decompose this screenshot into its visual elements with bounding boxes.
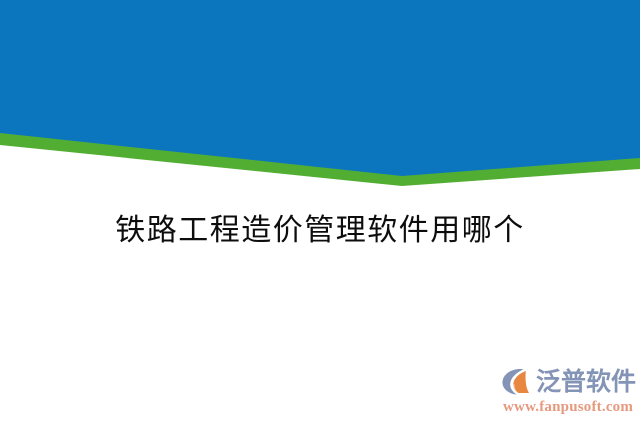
page-title: 铁路工程造价管理软件用哪个 xyxy=(115,212,525,250)
banner-green-shape xyxy=(0,0,640,186)
logo-row: 泛普软件 xyxy=(501,365,636,397)
logo-url: www.fanpusoft.com xyxy=(503,400,633,415)
banner-blue-shape xyxy=(0,0,640,176)
slide-canvas: 铁路工程造价管理软件用哪个 泛普软件 www.fanpusoft.com xyxy=(0,0,640,427)
page-title-block: 铁路工程造价管理软件用哪个 xyxy=(0,212,640,250)
brand-logo: 泛普软件 www.fanpusoft.com xyxy=(501,365,637,417)
fanpu-swoosh-icon xyxy=(501,367,534,396)
chevron-banner xyxy=(0,0,640,200)
logo-wordmark: 泛普软件 xyxy=(536,369,636,394)
